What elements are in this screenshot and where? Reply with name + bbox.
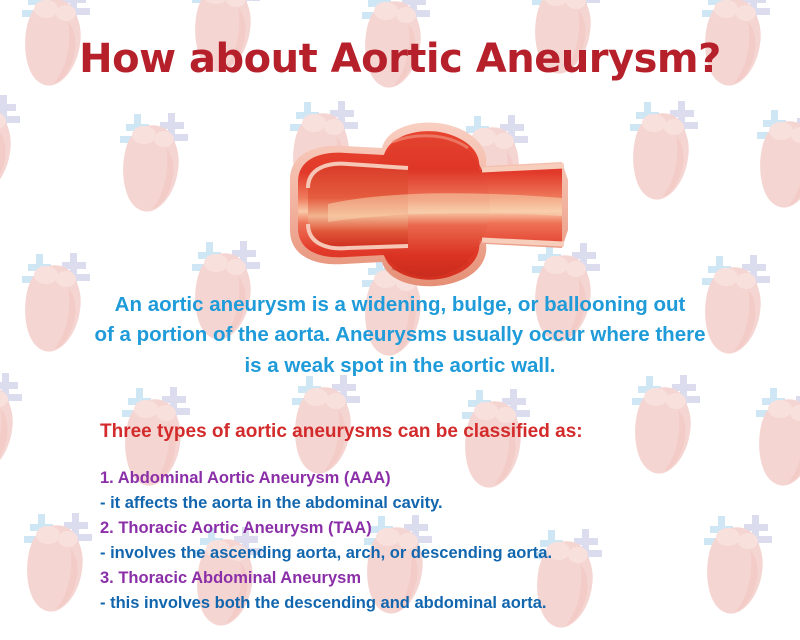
intro-line: of a portion of the aorta. Aneurysms usu…	[30, 320, 770, 350]
anatomical-heart-icon	[618, 96, 710, 204]
intro-line: An aortic aneurysm is a widening, bulge,…	[30, 290, 770, 320]
intro-line: is a weak spot in the aortic wall.	[30, 351, 770, 381]
aneurysm-types-list: 1. Abdominal Aortic Aneurysm (AAA) - it …	[100, 466, 760, 616]
page-title: How about Aortic Aneurysm?	[0, 36, 800, 82]
aortic-aneurysm-illustration	[232, 118, 584, 290]
list-item-type-detail: - this involves both the descending and …	[100, 591, 760, 616]
intro-paragraph: An aortic aneurysm is a widening, bulge,…	[30, 290, 770, 381]
list-item-type-number: 1. Abdominal Aortic Aneurysm (AAA)	[100, 466, 760, 491]
types-subheading: Three types of aortic aneurysms can be c…	[100, 421, 740, 443]
anatomical-heart-icon	[745, 104, 800, 212]
anatomical-heart-icon	[0, 368, 34, 476]
anatomical-heart-icon	[12, 508, 104, 616]
list-item-type-number: 2. Thoracic Aortic Aneurysm (TAA)	[100, 516, 760, 541]
list-item-type-detail: - it affects the aorta in the abdominal …	[100, 491, 760, 516]
list-item-type-number: 3. Thoracic Abdominal Aneurysm	[100, 566, 760, 591]
anatomical-heart-icon	[108, 108, 200, 216]
anatomical-heart-icon	[0, 90, 32, 198]
infographic-poster: How about Aortic Aneurysm?	[0, 0, 800, 640]
list-item-type-detail: - involves the ascending aorta, arch, or…	[100, 541, 760, 566]
